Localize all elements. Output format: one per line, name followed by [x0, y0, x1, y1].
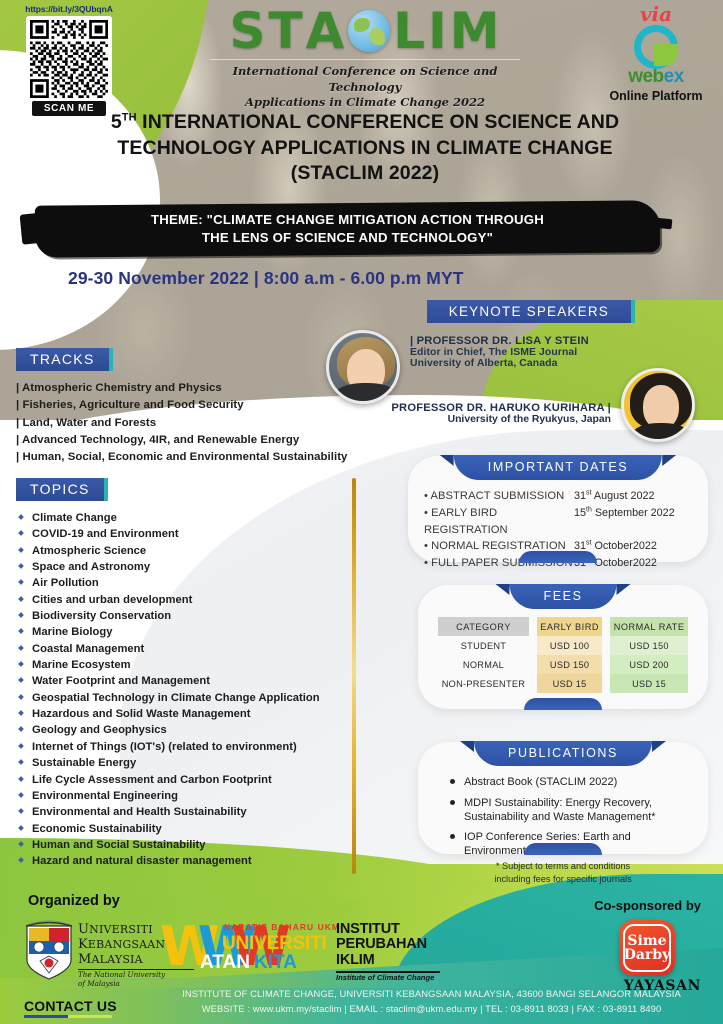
bullet-dot-icon: [450, 800, 455, 805]
topic-label: Marine Ecosystem: [32, 659, 131, 671]
via-label: via: [597, 4, 715, 24]
bullet-dot-icon: [450, 779, 455, 784]
speaker-2-details: PROFESSOR DR. HARUKO KURIHARA | Universi…: [391, 402, 611, 425]
online-platform-label: Online Platform: [597, 89, 715, 103]
qr-block: https://bit.ly/3QUbqnA: [14, 4, 124, 118]
speaker-1-details: | PROFESSOR DR. LISA Y STEIN Editor in C…: [410, 335, 589, 369]
bullet-diamond-icon: [18, 678, 24, 684]
topic-item: Human and Social Sustainability: [16, 837, 346, 853]
important-date-row: ABSTRACT SUBMISSION 31st August 2022: [424, 488, 700, 505]
track-item: | Land, Water and Forests: [16, 415, 347, 432]
speaker-1-affiliation: University of Alberta, Canada: [410, 358, 589, 369]
qr-code-icon[interactable]: [30, 20, 108, 98]
fees-card: FEES CATEGORY EARLY BIRD NORMAL RATE STU…: [418, 585, 708, 709]
contact-us-block: CONTACT US: [24, 998, 117, 1018]
globe-icon: [348, 10, 390, 52]
topics-list: Climate Change COVID-19 and Environment …: [16, 510, 346, 870]
speaker-1-name: | PROFESSOR DR. LISA Y STEIN: [410, 335, 589, 347]
card-bottom-tab: [524, 698, 602, 710]
important-dates-heading: IMPORTANT DATES: [454, 455, 662, 480]
date-value: 15th September 2022: [574, 505, 675, 539]
important-date-row: EARLY BIRD REGISTRATION 15th September 2…: [424, 505, 700, 539]
fees-cell-category: NON-PRESENTER: [438, 674, 529, 693]
topic-label: Air Pollution: [32, 577, 99, 589]
topic-item: Air Pollution: [16, 575, 346, 591]
topic-label: Geospatial Technology in Climate Change …: [32, 692, 320, 704]
bullet-diamond-icon: [18, 792, 24, 798]
topic-label: Coastal Management: [32, 643, 144, 655]
date-label: ABSTRACT SUBMISSION: [424, 488, 574, 505]
topic-item: Environmental and Health Sustainability: [16, 804, 346, 820]
sime-darby-logo: Sime Darby: [619, 920, 675, 976]
keynote-speakers-heading: KEYNOTE SPEAKERS: [427, 300, 635, 323]
bullet-dot-icon: [450, 834, 455, 839]
staclim-logo-letters: S T A L I M: [200, 6, 530, 56]
table-row: STUDENT USD 100 USD 150: [438, 636, 688, 655]
bullet-diamond-icon: [18, 759, 24, 765]
track-item: | Human, Social, Economic and Environmen…: [16, 449, 347, 466]
sime-text: Sime: [627, 934, 666, 948]
logo-letter-s: S: [229, 6, 266, 56]
publication-label: Abstract Book (STACLIM 2022): [464, 776, 617, 788]
publications-card: PUBLICATIONS Abstract Book (STACLIM 2022…: [418, 742, 708, 854]
watan-kita-text: KITA: [254, 952, 297, 973]
webex-web-text: web: [628, 66, 663, 87]
fees-col-normal-rate: NORMAL RATE: [610, 617, 688, 636]
publications-footnote-line1: * Subject to terms and conditions: [418, 860, 708, 873]
fees-cell-category: NORMAL: [438, 655, 529, 674]
bullet-diamond-icon: [18, 563, 24, 569]
contact-us-underline: [24, 1015, 117, 1018]
bullet-diamond-icon: [18, 694, 24, 700]
topics-heading: TOPICS: [16, 478, 108, 501]
fees-heading: FEES: [509, 584, 616, 609]
tracks-list: | Atmospheric Chemistry and Physics | Fi…: [16, 380, 347, 467]
table-row: NORMAL USD 150 USD 200: [438, 655, 688, 674]
topic-item: Water Footprint and Management: [16, 673, 346, 689]
topic-item: Life Cycle Assessment and Carbon Footpri…: [16, 772, 346, 788]
track-item: | Fisheries, Agriculture and Food Securi…: [16, 397, 347, 414]
topic-label: Climate Change: [32, 512, 117, 524]
webex-block: via Cisco webex Online Platform: [597, 4, 715, 103]
bullet-diamond-icon: [18, 776, 24, 782]
publications-footnote: * Subject to terms and conditions includ…: [418, 860, 708, 886]
page-title: 5TH INTERNATIONAL CONFERENCE ON SCIENCE …: [40, 110, 690, 187]
topic-item: Cities and urban development: [16, 592, 346, 608]
webex-wordmark: webex: [597, 67, 715, 86]
avatar-speaker-2: [621, 368, 695, 442]
bullet-diamond-icon: [18, 727, 24, 733]
topic-item: Hazard and natural disaster management: [16, 853, 346, 869]
tracks-heading: TRACKS: [16, 348, 113, 371]
publication-item: MDPI Sustainability: Energy Recovery, Su…: [452, 797, 696, 825]
topic-item: Marine Biology: [16, 624, 346, 640]
bullet-diamond-icon: [18, 857, 24, 863]
topic-label: COVID-19 and Environment: [32, 528, 179, 540]
watan-tagline: NARATIF BAHARU UKM: [224, 922, 340, 932]
topic-item: Coastal Management: [16, 641, 346, 657]
topic-item: Biodiversity Conservation: [16, 608, 346, 624]
logo-letter-l: L: [393, 6, 426, 56]
contact-website-email-tel-fax: WEBSITE : www.ukm.my/staclim | EMAIL : s…: [140, 1001, 723, 1016]
bullet-diamond-icon: [18, 629, 24, 635]
logo-letter-a: A: [306, 6, 346, 56]
topic-label: Human and Social Sustainability: [32, 839, 205, 851]
scan-me-label: SCAN ME: [32, 101, 106, 116]
bullet-diamond-icon: [18, 531, 24, 537]
topic-label: Internet of Things (IOT's) (related to e…: [32, 741, 297, 753]
bullet-diamond-icon: [18, 612, 24, 618]
bullet-diamond-icon: [18, 743, 24, 749]
fees-cell-early-bird: USD 100: [537, 636, 602, 655]
watan-universiti: UNIVERSITI: [222, 934, 327, 953]
institute-climate-change-logo: INSTITUT PERUBAHAN IKLIM Institute of Cl…: [336, 922, 440, 982]
topic-item: Sustainable Energy: [16, 755, 346, 771]
track-item: | Advanced Technology, 4IR, and Renewabl…: [16, 432, 347, 449]
important-dates-card: IMPORTANT DATES ABSTRACT SUBMISSION 31st…: [408, 456, 708, 562]
bullet-diamond-icon: [18, 514, 24, 520]
topic-label: Atmospheric Science: [32, 545, 146, 557]
vertical-gold-divider: [352, 478, 356, 874]
topic-item: Marine Ecosystem: [16, 657, 346, 673]
card-bottom-tab: [519, 551, 597, 563]
bullet-diamond-icon: [18, 661, 24, 667]
fees-col-category: CATEGORY: [438, 617, 529, 636]
topic-label: Environmental Engineering: [32, 790, 178, 802]
theme-line2: THE LENS OF SCIENCE AND TECHNOLOGY": [202, 230, 493, 245]
conference-poster: https://bit.ly/3QUbqnA: [0, 0, 723, 1024]
topic-item: Climate Change: [16, 510, 346, 526]
topic-item: Space and Astronomy: [16, 559, 346, 575]
topic-item: COVID-19 and Environment: [16, 526, 346, 542]
theme-text: THEME: "CLIMATE CHANGE MITIGATION ACTION…: [35, 203, 660, 255]
topic-label: Hazardous and Solid Waste Management: [32, 708, 251, 720]
fees-cell-early-bird: USD 15: [537, 674, 602, 693]
table-spacer: [602, 617, 610, 636]
topic-item: Internet of Things (IOT's) (related to e…: [16, 739, 346, 755]
fees-cell-normal-rate: USD 15: [610, 674, 688, 693]
logo-letter-m: M: [450, 6, 501, 56]
bullet-diamond-icon: [18, 825, 24, 831]
topic-item: Environmental Engineering: [16, 788, 346, 804]
table-header-row: CATEGORY EARLY BIRD NORMAL RATE: [438, 617, 688, 636]
watan-atan-kita: ATANKITA: [200, 953, 297, 972]
publication-item: Abstract Book (STACLIM 2022): [452, 776, 696, 790]
co-sponsored-by-label: Co-sponsored by: [594, 898, 701, 913]
table-row: NON-PRESENTER USD 15 USD 15: [438, 674, 688, 693]
topic-item: Geospatial Technology in Climate Change …: [16, 690, 346, 706]
date-value: 31st August 2022: [574, 488, 655, 505]
webex-ex-text: ex: [664, 66, 684, 87]
table-spacer: [529, 617, 537, 636]
theme-line1: THEME: "CLIMATE CHANGE MITIGATION ACTION…: [151, 212, 544, 227]
topics-section: TOPICS Climate Change COVID-19 and Envir…: [16, 478, 346, 870]
title-line2: TECHNOLOGY APPLICATIONS IN CLIMATE CHANG…: [117, 137, 612, 159]
logo-letter-t: T: [268, 6, 303, 56]
track-item: | Atmospheric Chemistry and Physics: [16, 380, 347, 397]
topic-label: Geology and Geophysics: [32, 724, 167, 736]
topic-label: Economic Sustainability: [32, 823, 162, 835]
fees-cell-category: STUDENT: [438, 636, 529, 655]
topic-item: Hazardous and Solid Waste Management: [16, 706, 346, 722]
title-line1-rest: INTERNATIONAL CONFERENCE ON SCIENCE AND: [137, 111, 620, 133]
publications-footnote-line2: including fees for specific journals: [418, 873, 708, 886]
topic-item: Atmospheric Science: [16, 543, 346, 559]
topic-label: Water Footprint and Management: [32, 675, 210, 687]
bullet-diamond-icon: [18, 808, 24, 814]
fees-cell-early-bird: USD 150: [537, 655, 602, 674]
fees-cell-normal-rate: USD 200: [610, 655, 688, 674]
topic-label: Life Cycle Assessment and Carbon Footpri…: [32, 774, 272, 786]
publications-heading: PUBLICATIONS: [474, 741, 652, 766]
date-label: EARLY BIRD REGISTRATION: [424, 505, 574, 539]
contact-details: INSTITUTE OF CLIMATE CHANGE, UNIVERSITI …: [140, 986, 723, 1016]
publication-label: MDPI Sustainability: Energy Recovery, Su…: [464, 797, 656, 823]
darby-text: Darby: [624, 948, 671, 962]
topic-label: Space and Astronomy: [32, 561, 150, 573]
bullet-diamond-icon: [18, 841, 24, 847]
logo-letter-i: I: [428, 6, 448, 56]
fees-table: CATEGORY EARLY BIRD NORMAL RATE STUDENT …: [438, 617, 688, 693]
theme-banner: THEME: "CLIMATE CHANGE MITIGATION ACTION…: [35, 203, 660, 255]
speaker-1-role: Editor in Chief, The ISME Journal: [410, 347, 589, 358]
bullet-diamond-icon: [18, 710, 24, 716]
bullet-diamond-icon: [18, 547, 24, 553]
fees-col-early-bird: EARLY BIRD: [537, 617, 602, 636]
ipi-italic-label: Institute of Climate Change: [336, 974, 440, 982]
topic-label: Sustainable Energy: [32, 757, 136, 769]
qr-url-label: https://bit.ly/3QUbqnA: [14, 4, 124, 14]
organized-by-label: Organized by: [28, 893, 120, 909]
bullet-diamond-icon: [18, 580, 24, 586]
bullet-diamond-icon: [18, 596, 24, 602]
ukm-crest-icon: [24, 918, 74, 980]
topic-item: Economic Sustainability: [16, 821, 346, 837]
contact-address: INSTITUTE OF CLIMATE CHANGE, UNIVERSITI …: [140, 986, 723, 1001]
title-ordinal-suffix: TH: [122, 112, 137, 124]
contact-us-label: CONTACT US: [24, 998, 117, 1014]
watan-kita-logo: WWW NARATIF BAHARU UKM UNIVERSITI ATANKI…: [160, 920, 340, 982]
topic-label: Biodiversity Conservation: [32, 610, 171, 622]
conference-date-time: 29-30 November 2022 | 8:00 a.m - 6.00 p.…: [68, 268, 464, 289]
bullet-diamond-icon: [18, 645, 24, 651]
logo-subtitle-line1: International Conference on Science and …: [200, 64, 530, 95]
topic-label: Marine Biology: [32, 626, 112, 638]
fees-cell-normal-rate: USD 150: [610, 636, 688, 655]
ipi-line-3: IKLIM: [336, 953, 440, 968]
card-bottom-tab: [524, 843, 602, 855]
tracks-section: TRACKS | Atmospheric Chemistry and Physi…: [16, 348, 347, 467]
webex-logo-icon: [634, 25, 678, 69]
ipi-line-2: PERUBAHAN: [336, 937, 440, 952]
title-line3: (STACLIM 2022): [291, 162, 439, 184]
topic-label: Cities and urban development: [32, 594, 192, 606]
logo-subtitle-line2: Applications in Climate Change 2022: [200, 95, 530, 111]
ukm-crest-logo: [24, 918, 74, 980]
speaker-2-name: PROFESSOR DR. HARUKO KURIHARA |: [391, 402, 611, 414]
staclim-logo: S T A L I M International Conference on …: [200, 6, 530, 111]
sime-darby-wordmark: Sime Darby: [619, 920, 675, 976]
ipi-line-1: INSTITUT: [336, 922, 440, 937]
speaker-2-affiliation: University of the Ryukyus, Japan: [391, 414, 611, 425]
topic-label: Hazard and natural disaster management: [32, 855, 252, 867]
topic-item: Geology and Geophysics: [16, 722, 346, 738]
topic-label: Environmental and Health Sustainability: [32, 806, 247, 818]
watan-atan-text: ATAN: [200, 952, 250, 973]
qr-card[interactable]: SCAN ME: [26, 16, 112, 118]
